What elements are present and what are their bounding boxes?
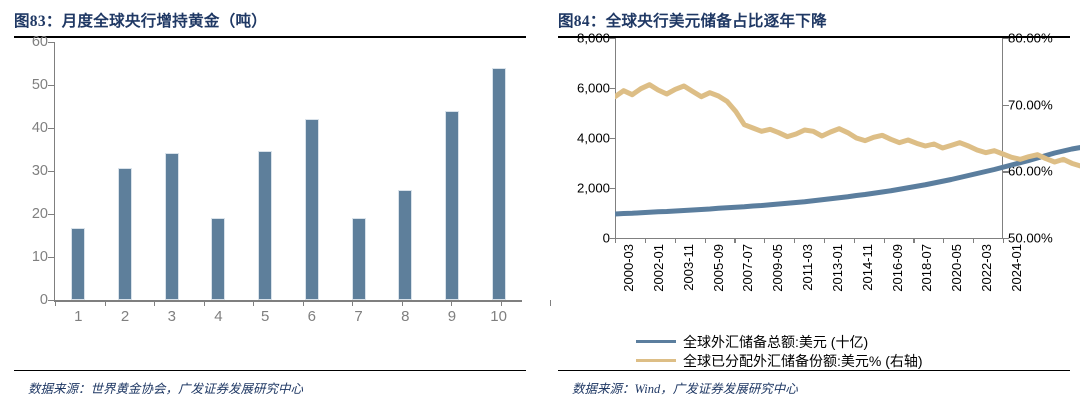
page-title-84: 图84：全球央行美元储备占比逐年下降 [558,0,1070,33]
legend-item[interactable]: 全球外汇储备总额:美元 (十亿) [558,332,1070,351]
line-chart-x-tick [1003,238,1004,243]
legend-line-icon [636,340,676,343]
line-chart-right-tick [1003,105,1009,106]
line-chart-legend: 全球外汇储备总额:美元 (十亿)全球已分配外汇储备份额:美元% (右轴) [558,332,1070,372]
bar-chart-bar [492,68,506,300]
bar-chart-bar [398,190,412,301]
bar-chart-bar [211,218,225,300]
bar-chart-x-tick-label: 9 [448,308,456,325]
line-chart-left-tick [609,88,615,89]
line-chart-x-tick [943,238,944,243]
line-chart-x-tick-label: 2013-01 [830,244,845,292]
bar-chart-y-tick-label: 10 [32,249,48,265]
bar-chart-x-tick-label: 8 [401,308,409,325]
line-chart-left-tick [609,138,615,139]
line-chart-left-tick-label: 2,000 [577,181,610,196]
bar-chart-y-tick [48,257,55,258]
bar-chart-x-tick [253,300,254,306]
legend-item[interactable]: 全球已分配外汇储备份额:美元% (右轴) [558,351,1070,370]
bar-chart-bar [71,228,85,300]
source-note-83: 数据来源：世界黄金协会，广发证券发展研究中心 [14,371,526,397]
line-chart-x-tick [824,238,825,243]
bar-chart-x-axis-labels: 12345678910 [55,308,522,334]
line-chart-x-tick [615,238,616,243]
bar-chart-x-tick [402,300,403,306]
line-chart-x-tick [854,238,855,243]
bar-chart-y-axis-labels: 0102030405060 [14,42,48,300]
bar-chart-x-tick-label: 10 [490,308,507,325]
line-chart-left-tick [609,188,615,189]
source-wrap-83: 数据来源：世界黄金协会，广发证券发展研究中心 [14,370,526,417]
bar-chart-y-tick-label: 60 [32,34,48,50]
line-chart-x-tick [764,238,765,243]
bar-chart-x-tick-label: 5 [261,308,269,325]
line-chart-x-axis-labels: 2000-032002-012003-112005-092007-072009-… [615,244,1003,318]
bar-chart-bar [305,119,319,300]
bar-chart-y-tick [48,214,55,215]
line-chart-x-tick-label: 2003-11 [681,244,696,291]
line-chart-left-tick [609,38,615,39]
bar-chart-bar [165,153,179,300]
line-chart-left-axis-labels: 02,0004,0006,0008,000 [558,38,610,238]
line-chart-right-tick [1003,171,1009,172]
line-chart-x-axis-line [615,238,1003,239]
line-chart-x-tick-label: 2000-03 [621,244,636,292]
bar-chart-x-tick-label: 7 [354,308,362,325]
line-chart-x-tick-label: 2007-07 [740,244,755,292]
bar-chart-y-tick [48,85,55,86]
bar-chart-x-tick [105,300,106,306]
bar-chart-x-tick [154,300,155,306]
bar-chart-x-tick-label: 2 [121,308,129,325]
line-chart-x-tick [794,238,795,243]
line-chart-x-tick-label: 2022-03 [979,244,994,292]
bar-chart-y-tick [48,42,55,43]
figure-panel-84: 图84：全球央行美元储备占比逐年下降 02,0004,0006,0008,000… [540,0,1080,417]
bar-chart-y-tick [48,300,55,301]
line-chart-x-tick [675,238,676,243]
bar-chart-y-tick-label: 20 [32,206,48,222]
bar-chart-x-tick-label: 3 [168,308,176,325]
bar-chart-x-tick-label: 1 [74,308,82,325]
line-chart-series [615,61,1080,215]
bar-chart-bar [118,168,132,300]
line-chart-left-tick-label: 4,000 [577,131,610,146]
line-chart-x-tick-label: 2009-05 [770,244,785,292]
line-chart-right-tick [1003,38,1009,39]
bar-chart-y-tick [48,171,55,172]
line-chart-x-tick [884,238,885,243]
legend-line-icon [636,359,676,362]
line-chart-x-tick-label: 2024-01 [1009,244,1024,292]
line-chart-x-tick-label: 2014-11 [860,244,875,291]
line-chart-x-tick-label: 2016-09 [890,244,905,292]
bar-chart-x-tick [303,300,304,306]
bar-chart-x-tick [352,300,353,306]
line-chart-left-tick-label: 8,000 [577,31,610,46]
line-chart-series [615,85,1080,193]
bar-chart-bar [258,151,272,300]
source-note-84: 数据来源：Wind，广发证券发展研究中心 [558,371,1070,397]
line-chart-x-tick [734,238,735,243]
line-chart-x-tick-label: 2005-09 [711,244,726,292]
line-chart-x-tick-label: 2011-03 [800,244,815,291]
line-chart-84: 02,0004,0006,0008,000 50.00%60.00%70.00%… [558,34,1070,370]
line-chart-x-tick-label: 2002-01 [651,244,666,292]
bar-chart-x-tick-label: 4 [214,308,222,325]
bar-chart-y-tick-label: 50 [32,77,48,93]
line-chart-x-tick [705,238,706,243]
line-chart-x-tick [973,238,974,243]
line-chart-plot [615,38,1080,238]
bar-chart-x-tick [451,300,452,306]
figure-panel-83: 图83：月度全球央行增持黄金（吨） 0102030405060 12345678… [0,0,540,417]
line-chart-x-tick [913,238,914,243]
line-chart-x-tick-label: 2020-05 [949,244,964,292]
figure-sheet: 图83：月度全球央行增持黄金（吨） 0102030405060 12345678… [0,0,1080,417]
bar-chart-x-tick [55,300,56,306]
bar-chart-y-tick-label: 30 [32,163,48,179]
bar-chart-x-tick-label: 6 [308,308,316,325]
bar-chart-83: 0102030405060 12345678910 [14,34,526,370]
bar-chart-y-tick-label: 40 [32,120,48,136]
bar-chart-plot [55,42,522,300]
bar-chart-bar [352,218,366,300]
line-chart-left-tick-label: 6,000 [577,81,610,96]
line-chart-x-tick [645,238,646,243]
bar-chart-y-tick [48,128,55,129]
legend-label: 全球已分配外汇储备份额:美元% (右轴) [683,351,923,371]
bar-chart-x-tick [501,300,502,306]
bar-chart-x-tick [204,300,205,306]
page-title-83: 图83：月度全球央行增持黄金（吨） [14,0,526,33]
legend-label: 全球外汇储备总额:美元 (十亿) [683,332,868,352]
line-chart-x-tick-label: 2018-07 [919,244,934,292]
source-wrap-84: 数据来源：Wind，广发证券发展研究中心 [558,370,1070,417]
bar-chart-bar [445,111,459,300]
